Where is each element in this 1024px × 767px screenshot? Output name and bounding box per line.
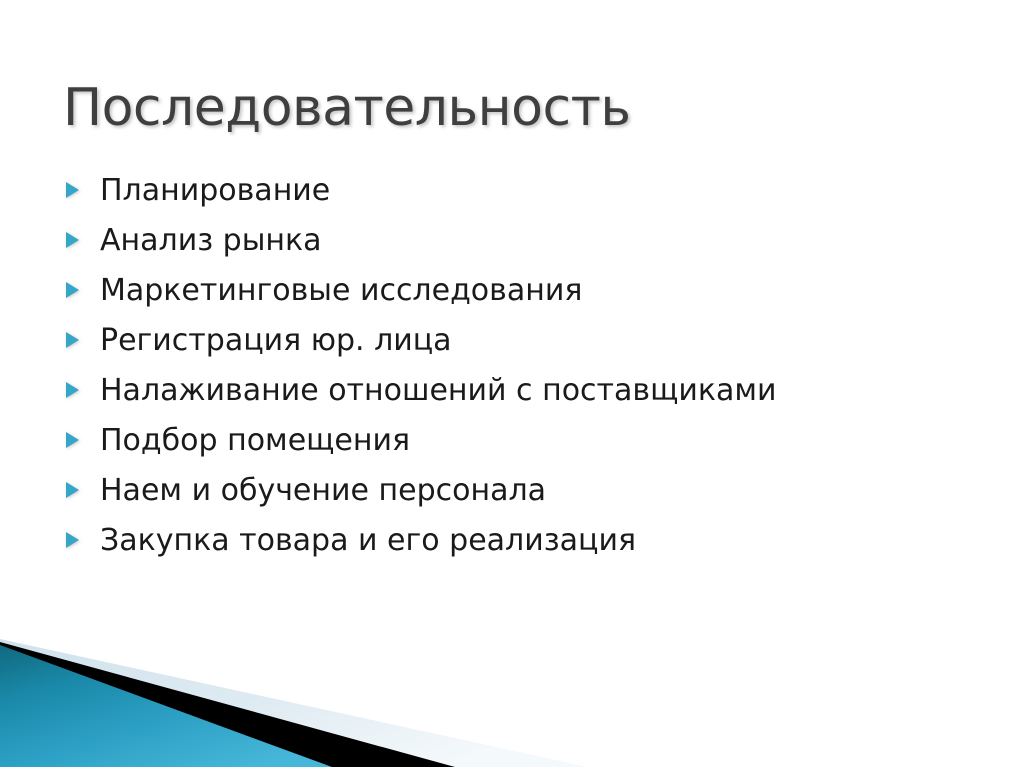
triangle-right-icon [66, 432, 79, 448]
list-item: Подбор помещения [66, 416, 986, 466]
list-item-label: Анализ рынка [100, 216, 986, 266]
black-band [0, 642, 455, 767]
list-item: Регистрация юр. лица [66, 316, 986, 366]
list-item-label: Регистрация юр. лица [100, 316, 986, 366]
triangle-right-icon [66, 482, 79, 498]
list-item: Анализ рынка [66, 216, 986, 266]
list-item-label: Наем и обучение персонала [100, 466, 986, 516]
triangle-right-icon [66, 532, 79, 548]
triangle-right-icon [66, 182, 79, 198]
triangle-right-icon [66, 382, 79, 398]
pale-blue-band [0, 639, 588, 767]
page-title: Последовательность [63, 79, 963, 139]
list-item: Наем и обучение персонала [66, 466, 986, 516]
angles-footer-decoration [0, 617, 1024, 767]
list-item: Налаживание отношений с поставщиками [66, 366, 986, 416]
triangle-right-icon [66, 332, 79, 348]
list-item-label: Маркетинговые исследования [100, 266, 986, 316]
bullet-list: Планирование Анализ рынка Маркетинговые … [66, 166, 986, 566]
list-item: Закупка товара и его реализация [66, 516, 986, 566]
list-item-label: Подбор помещения [100, 416, 986, 466]
list-item-label: Закупка товара и его реализация [100, 516, 986, 566]
slide: Последовательность Планирование Анализ р… [0, 0, 1024, 767]
list-item-label: Планирование [100, 166, 986, 216]
list-item-label: Налаживание отношений с поставщиками [100, 366, 986, 416]
triangle-right-icon [66, 282, 79, 298]
teal-band [0, 645, 332, 767]
list-item: Маркетинговые исследования [66, 266, 986, 316]
triangle-right-icon [66, 232, 79, 248]
list-item: Планирование [66, 166, 986, 216]
